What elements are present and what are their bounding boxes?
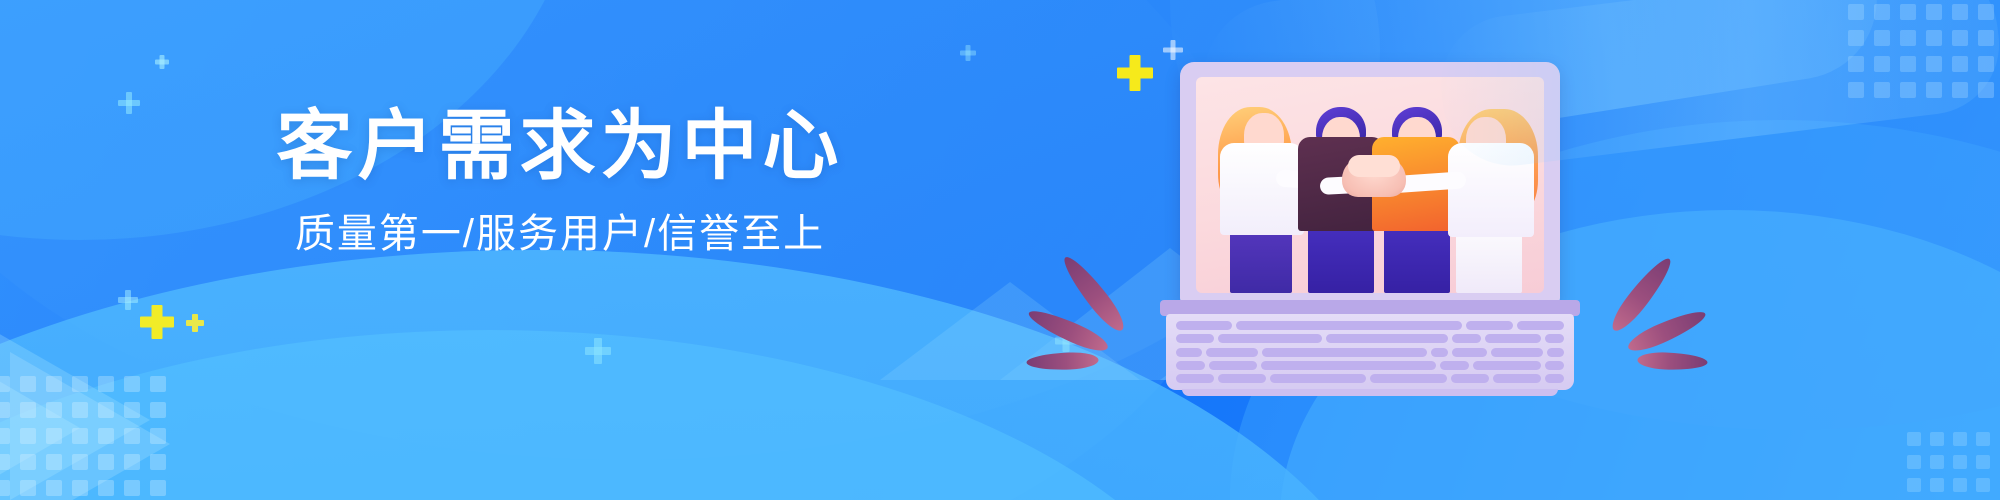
grid-dot (1978, 30, 1994, 46)
grid-dot (150, 454, 166, 470)
grid-dot (0, 428, 10, 444)
grid-dot (20, 480, 36, 496)
grid-dot (1900, 82, 1916, 98)
grid-dot (1900, 30, 1916, 46)
keyboard-row (1176, 321, 1564, 330)
grid-dot (1976, 432, 1990, 446)
plus-icon-yellow-left (140, 305, 174, 339)
keyboard-key (1236, 321, 1462, 330)
keyboard-key (1517, 321, 1564, 330)
grid-dot (72, 480, 88, 496)
keyboard-row (1176, 361, 1564, 370)
grid-dot (1930, 432, 1944, 446)
grid-dot (0, 402, 10, 418)
grid-dot (20, 402, 36, 418)
grid-dot (124, 428, 140, 444)
keyboard-key (1451, 374, 1489, 383)
keyboard-key (1176, 334, 1214, 343)
grid-dot (150, 428, 166, 444)
grid-dot (20, 454, 36, 470)
grid-dot (1874, 56, 1890, 72)
keyboard-row (1176, 334, 1564, 343)
grid-dot (98, 376, 114, 392)
plus-icon-cyan-left (118, 92, 140, 114)
keyboard-key (1218, 374, 1266, 383)
grid-dot (98, 454, 114, 470)
keyboard-key (1466, 321, 1513, 330)
grid-dot (1874, 4, 1890, 20)
grid-dot (150, 376, 166, 392)
grid-dot (124, 376, 140, 392)
keyboard-key (1209, 361, 1257, 370)
grid-dot (124, 480, 140, 496)
plus-icon-cyan-lower-left (118, 290, 138, 310)
grid-dot (98, 428, 114, 444)
grid-dot (1926, 4, 1942, 20)
grid-dot (72, 428, 88, 444)
keyboard-key (1206, 348, 1258, 357)
grid-dot (98, 480, 114, 496)
plus-icon-cyan-center-bottom (585, 338, 611, 364)
grid-dot (0, 480, 10, 496)
grid-dot (150, 480, 166, 496)
keyboard-key (1491, 348, 1543, 357)
promo-banner: 客户需求为中心 质量第一/服务用户/信誉至上 (0, 0, 2000, 500)
grid-dot (124, 454, 140, 470)
headline-block: 客户需求为中心 质量第一/服务用户/信誉至上 (250, 108, 870, 256)
grid-dot (1930, 455, 1944, 469)
grid-dot (150, 402, 166, 418)
keyboard-key (1218, 334, 1322, 343)
stacked-hands-top (1348, 155, 1400, 177)
laptop-front-edge (1182, 389, 1558, 396)
grid-dot (1848, 4, 1864, 20)
grid-dot (46, 376, 62, 392)
laptop-lid (1180, 62, 1560, 304)
grid-dot (72, 454, 88, 470)
grid-dot (0, 376, 10, 392)
leaf-decoration-right-3 (1637, 352, 1708, 371)
grid-dot (46, 480, 62, 496)
keyboard-key (1370, 374, 1447, 383)
plus-icon-cyan-small-top-left (155, 55, 169, 69)
grid-dot (46, 428, 62, 444)
grid-dot (1907, 455, 1921, 469)
keyboard-key (1547, 348, 1564, 357)
grid-dot (1952, 4, 1968, 20)
grid-dot (20, 428, 36, 444)
grid-dot (1848, 82, 1864, 98)
keyboard-key (1176, 321, 1232, 330)
grid-dot (46, 402, 62, 418)
keyboard-key (1473, 361, 1541, 370)
laptop-illustration (1160, 62, 1580, 362)
grid-dot (1926, 56, 1942, 72)
grid-dot (1926, 82, 1942, 98)
grid-dot (46, 454, 62, 470)
grid-dot (1953, 432, 1967, 446)
plus-icon-yellow-small-left (186, 314, 204, 332)
grid-dot (124, 402, 140, 418)
keyboard-key (1545, 334, 1564, 343)
plus-icon-cyan-upper-center (960, 45, 976, 61)
keyboard-row (1176, 348, 1564, 357)
woman-right-blouse (1448, 143, 1534, 237)
keyboard-row (1176, 374, 1564, 383)
dot-grid-bottom-right (1907, 432, 1990, 492)
keyboard-key (1326, 334, 1449, 343)
keyboard-key (1262, 348, 1427, 357)
grid-dot (1900, 56, 1916, 72)
grid-dot (1978, 82, 1994, 98)
grid-dot (1976, 478, 1990, 492)
grid-dot (1952, 56, 1968, 72)
grid-dot (20, 376, 36, 392)
grid-dot (1978, 4, 1994, 20)
grid-dot (1952, 82, 1968, 98)
keyboard-key (1431, 348, 1448, 357)
grid-dot (1874, 82, 1890, 98)
dot-grid-top-right (1848, 4, 1994, 98)
grid-dot (1874, 30, 1890, 46)
grid-dot (1930, 478, 1944, 492)
keyboard-key (1545, 361, 1564, 370)
page-subtitle: 质量第一/服务用户/信誉至上 (250, 212, 870, 256)
grid-dot (1900, 4, 1916, 20)
grid-dot (1976, 455, 1990, 469)
grid-dot (1907, 432, 1921, 446)
grid-dot (1907, 478, 1921, 492)
dot-grid-bottom-left (0, 376, 166, 496)
keyboard-key (1452, 348, 1487, 357)
keyboard-key (1176, 348, 1202, 357)
grid-dot (1848, 30, 1864, 46)
grid-dot (1953, 455, 1967, 469)
grid-dot (0, 454, 10, 470)
grid-dot (98, 402, 114, 418)
keyboard-key (1176, 374, 1214, 383)
keyboard-key (1261, 361, 1435, 370)
keyboard-key (1176, 361, 1205, 370)
grid-dot (72, 402, 88, 418)
keyboard-key (1493, 374, 1541, 383)
grid-dot (1848, 56, 1864, 72)
grid-dot (1926, 30, 1942, 46)
keyboard-spacebar (1270, 374, 1366, 383)
plus-icon-yellow-top (1117, 55, 1153, 91)
keyboard-key (1440, 361, 1469, 370)
person-woman-right (1440, 89, 1544, 293)
grid-dot (1978, 56, 1994, 72)
laptop-screen (1196, 77, 1544, 293)
keyboard-key (1485, 334, 1542, 343)
grid-dot (1953, 478, 1967, 492)
grid-dot (1952, 30, 1968, 46)
keyboard-key (1452, 334, 1480, 343)
plus-icon-white-top (1163, 40, 1183, 60)
page-title: 客户需求为中心 (250, 108, 870, 186)
grid-dot (72, 376, 88, 392)
keyboard-key (1545, 374, 1564, 383)
laptop-keyboard (1166, 314, 1574, 390)
